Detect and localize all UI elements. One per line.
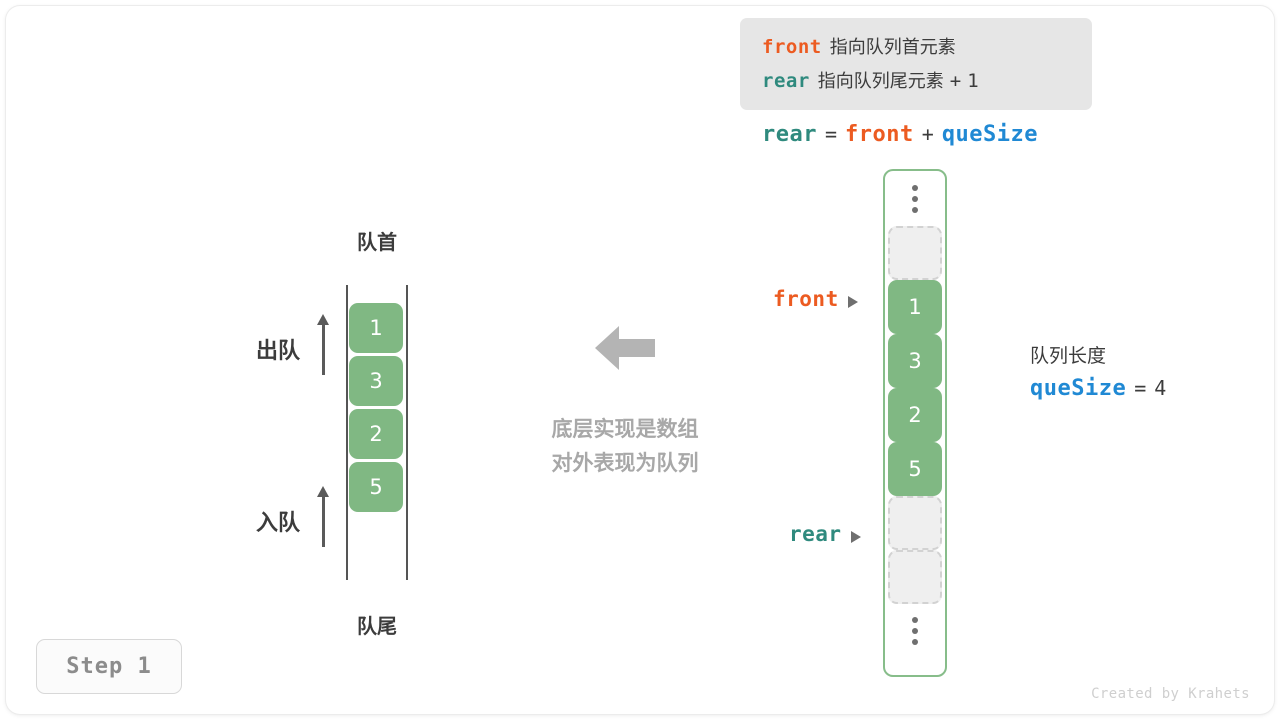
quesize-expression: queSize=4	[1030, 371, 1166, 405]
enqueue-label-text: 入队	[256, 511, 300, 536]
quesize-name: queSize	[1030, 376, 1126, 401]
formula-plus-sign: +	[922, 122, 934, 146]
array-cell-empty	[888, 226, 942, 280]
array-cell-ellipsis-bottom	[888, 604, 942, 658]
vertical-ellipsis-icon	[912, 617, 918, 645]
enqueue-arrow-up-icon	[322, 495, 325, 547]
formula-rhs-quesize: queSize	[942, 122, 1038, 147]
center-note-line2: 对外表现为队列	[515, 446, 735, 480]
queue-cell[interactable]: 5	[349, 462, 403, 512]
rear-pointer-label: rear	[789, 520, 861, 548]
legend-line-rear: rear指向队列尾元素+1	[762, 64, 1092, 98]
legend-line-front: front指向队列首元素	[762, 30, 1092, 64]
legend-rear-keyword: rear	[762, 70, 810, 92]
dequeue-label: 出队	[256, 333, 300, 365]
legend-rear-offset: 1	[967, 70, 978, 92]
formula-equals-sign: =	[825, 122, 837, 146]
array-cell-ellipsis-top	[888, 172, 942, 226]
array-cell-filled[interactable]: 3	[888, 334, 942, 388]
formula-rhs-front: front	[845, 122, 914, 147]
queue-cell[interactable]: 1	[349, 303, 403, 353]
queue-tail-label: 队尾	[347, 610, 407, 639]
legend-front-text: 指向队列首元素	[830, 37, 956, 58]
array-cell-filled[interactable]: 1	[888, 280, 942, 334]
formula-rear-equals-front-plus-quesize: rear=front+queSize	[762, 118, 1038, 150]
queue-rail-right	[406, 285, 408, 580]
dequeue-label-text: 出队	[256, 339, 300, 364]
array-cell-empty	[888, 550, 942, 604]
dequeue-arrow-up-icon	[322, 323, 325, 375]
enqueue-label: 入队	[256, 505, 300, 537]
front-pointer-text: front	[773, 287, 839, 311]
array-cell-empty	[888, 496, 942, 550]
quesize-note: 队列长度 queSize=4	[1030, 341, 1166, 405]
queue-head-label: 队首	[347, 226, 407, 255]
array-cell-filled[interactable]: 2	[888, 388, 942, 442]
front-pointer-label: front	[773, 285, 858, 313]
legend-rear-text: 指向队列尾元素	[818, 71, 944, 92]
legend-rear-plus: +	[950, 70, 961, 92]
rear-pointer-text: rear	[789, 522, 842, 546]
legend-box: front指向队列首元素 rear指向队列尾元素+1	[740, 18, 1092, 110]
arrow-left-icon	[595, 323, 655, 373]
diagram-canvas: front指向队列首元素 rear指向队列尾元素+1 rear=front+qu…	[0, 0, 1280, 720]
queue-rail-left	[346, 285, 348, 580]
array-cell-list: 1 3 2 5	[888, 172, 942, 658]
center-note-line1: 底层实现是数组	[515, 412, 735, 446]
watermark: Created by Krahets	[1091, 686, 1250, 702]
legend-front-keyword: front	[762, 36, 822, 58]
quesize-value: 4	[1154, 376, 1166, 400]
quesize-caption: 队列长度	[1030, 341, 1166, 371]
formula-lhs-rear: rear	[762, 122, 817, 147]
vertical-ellipsis-icon	[912, 185, 918, 213]
queue-cell[interactable]: 3	[349, 356, 403, 406]
center-note: 底层实现是数组 对外表现为队列	[515, 412, 735, 480]
array-cell-filled[interactable]: 5	[888, 442, 942, 496]
queue-cell[interactable]: 2	[349, 409, 403, 459]
queue-cell-list: 1 3 2 5	[349, 303, 403, 515]
triangle-right-icon	[851, 531, 861, 543]
quesize-equals-sign: =	[1134, 376, 1146, 400]
triangle-right-icon	[848, 296, 858, 308]
step-badge: Step 1	[36, 639, 182, 694]
